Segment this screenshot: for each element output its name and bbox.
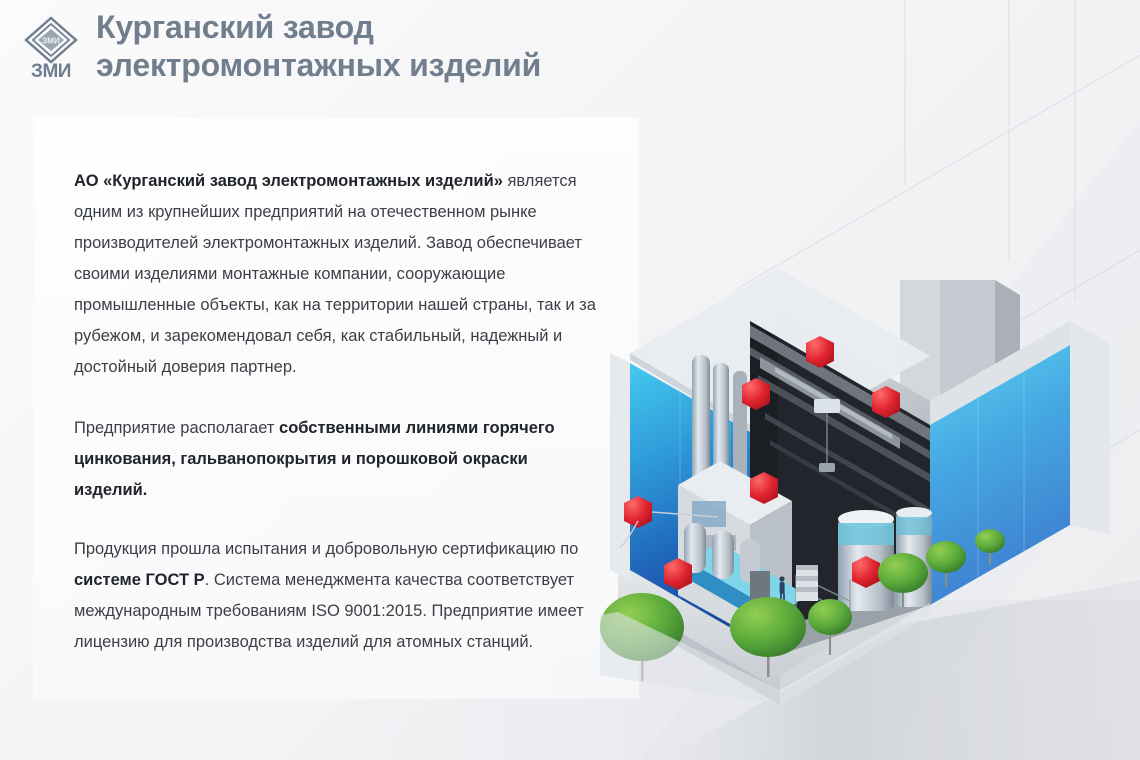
paragraph-lines-part1: Предприятие располагает <box>74 419 279 437</box>
right-outer-wall <box>1070 321 1110 535</box>
content-card-body: АО «Курганский завод электромонтажных из… <box>74 166 604 658</box>
left-outer-panel <box>610 353 630 580</box>
isometric-factory-illustration <box>600 235 1140 760</box>
logo-letters: ЗМИ <box>31 61 71 80</box>
paragraph-company: АО «Курганский завод электромонтажных из… <box>74 166 604 383</box>
page-title-line-1: Курганский завод <box>96 8 736 46</box>
slide-root: ЗМИ ЗМИ Курганский завод электромонтажны… <box>0 0 1140 760</box>
paragraph-production-lines: Предприятие располагает собственными лин… <box>74 413 604 506</box>
logo-inner-text: ЗМИ <box>42 37 60 46</box>
paragraph-cert-bold: системе ГОСТ Р <box>74 571 205 589</box>
paragraph-cert-part1: Продукция прошла испытания и добровольну… <box>74 540 578 558</box>
paragraph-company-rest: является одним из крупнейших предприятий… <box>74 172 596 376</box>
company-logo: ЗМИ ЗМИ <box>22 16 80 80</box>
page-title: Курганский завод электромонтажных издели… <box>96 8 736 84</box>
company-name-bold: АО «Курганский завод электромонтажных из… <box>74 172 503 190</box>
content-card: АО «Курганский завод электромонтажных из… <box>34 118 638 698</box>
page-header: ЗМИ ЗМИ Курганский завод электромонтажны… <box>0 0 1140 105</box>
page-title-line-2: электромонтажных изделий <box>96 46 736 84</box>
paragraph-certification: Продукция прошла испытания и добровольну… <box>74 534 604 658</box>
